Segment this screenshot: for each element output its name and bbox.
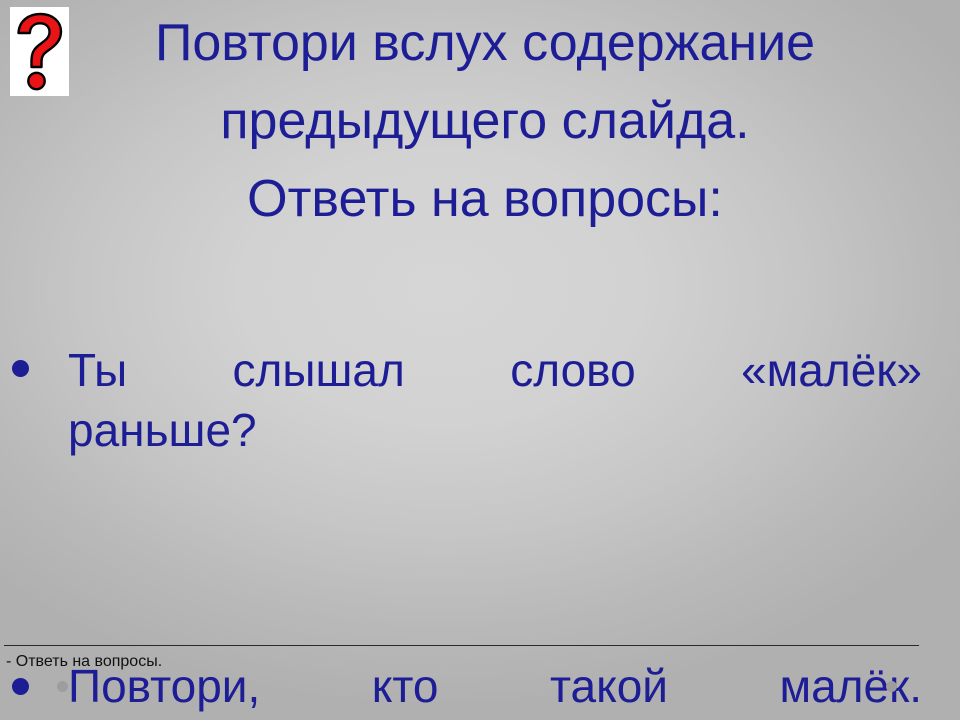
question-mark-image <box>10 7 69 96</box>
question-list: Ты слышал слово «малёк» раньше? Повтори,… <box>0 340 960 520</box>
bullet-1-line-1: Ты слышал слово «малёк» <box>68 340 922 400</box>
heading-line-2: предыдущего слайда. <box>70 82 900 160</box>
slide-canvas: Повтори вслух содержание предыдущего сла… <box>0 0 960 720</box>
decoration-dot-left <box>57 681 68 692</box>
footer-note: - Ответь на вопросы. <box>6 652 162 672</box>
bullet-dot-icon <box>12 678 29 695</box>
footer-divider <box>4 645 919 646</box>
bullet-1-line-2: раньше? <box>68 400 922 460</box>
heading-line-1: Повтори вслух содержание <box>70 4 900 82</box>
bullet-2-line-1: Повтори, кто такой малёк. <box>68 656 922 716</box>
bullet-dot-icon <box>12 360 29 377</box>
decoration-dot-right <box>886 681 897 692</box>
list-item: Ты слышал слово «малёк» раньше? <box>0 340 960 460</box>
slide-heading: Повтори вслух содержание предыдущего сла… <box>70 4 900 238</box>
question-mark-icon <box>19 14 62 89</box>
heading-line-3: Ответь на вопросы: <box>70 160 900 238</box>
